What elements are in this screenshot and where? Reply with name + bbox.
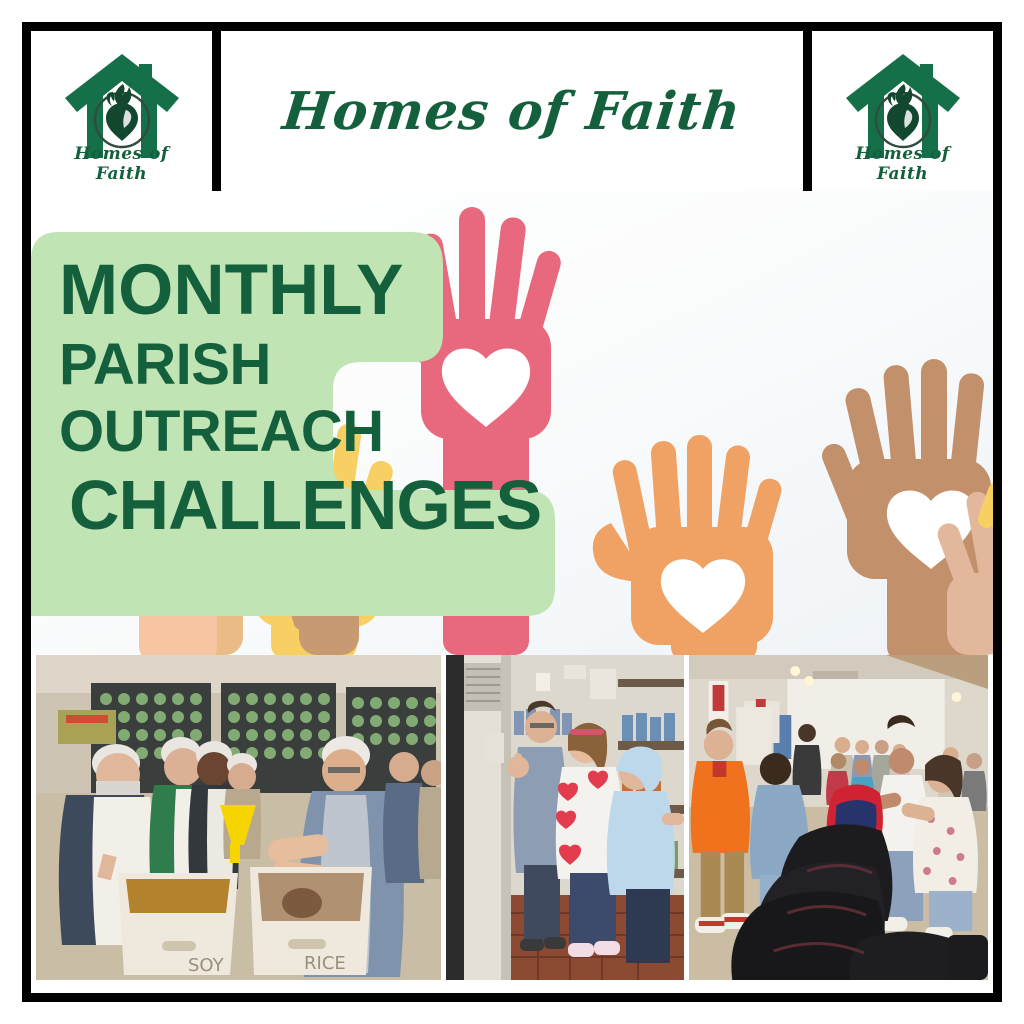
- header-right-logo-cell: Homes of Faith: [812, 31, 993, 191]
- header-left-logo-cell: Homes of Faith: [31, 31, 212, 191]
- svg-text:SOY: SOY: [188, 955, 225, 976]
- homes-of-faith-logo-right: Homes of Faith: [828, 40, 978, 182]
- svg-text:RICE: RICE: [304, 953, 346, 974]
- hero-illustration: [31, 191, 993, 655]
- photo-food-packing: SOY RICE: [36, 655, 441, 980]
- poster-canvas: Homes of Faith Homes of Faith Homes of F…: [0, 0, 1024, 1024]
- logo-wordmark: Homes of Faith: [47, 144, 197, 184]
- header-band: Homes of Faith Homes of Faith Homes of F…: [31, 31, 993, 191]
- logo-wordmark: Homes of Faith: [828, 144, 978, 184]
- page-title: Homes of Faith: [280, 81, 744, 142]
- homes-of-faith-logo-left: Homes of Faith: [47, 40, 197, 182]
- photo-food-pantry: [446, 655, 684, 980]
- photo-strip: SOY RICE: [36, 655, 988, 980]
- photo-backpack-drive: [689, 655, 988, 980]
- header-title-cell: Homes of Faith: [221, 31, 803, 191]
